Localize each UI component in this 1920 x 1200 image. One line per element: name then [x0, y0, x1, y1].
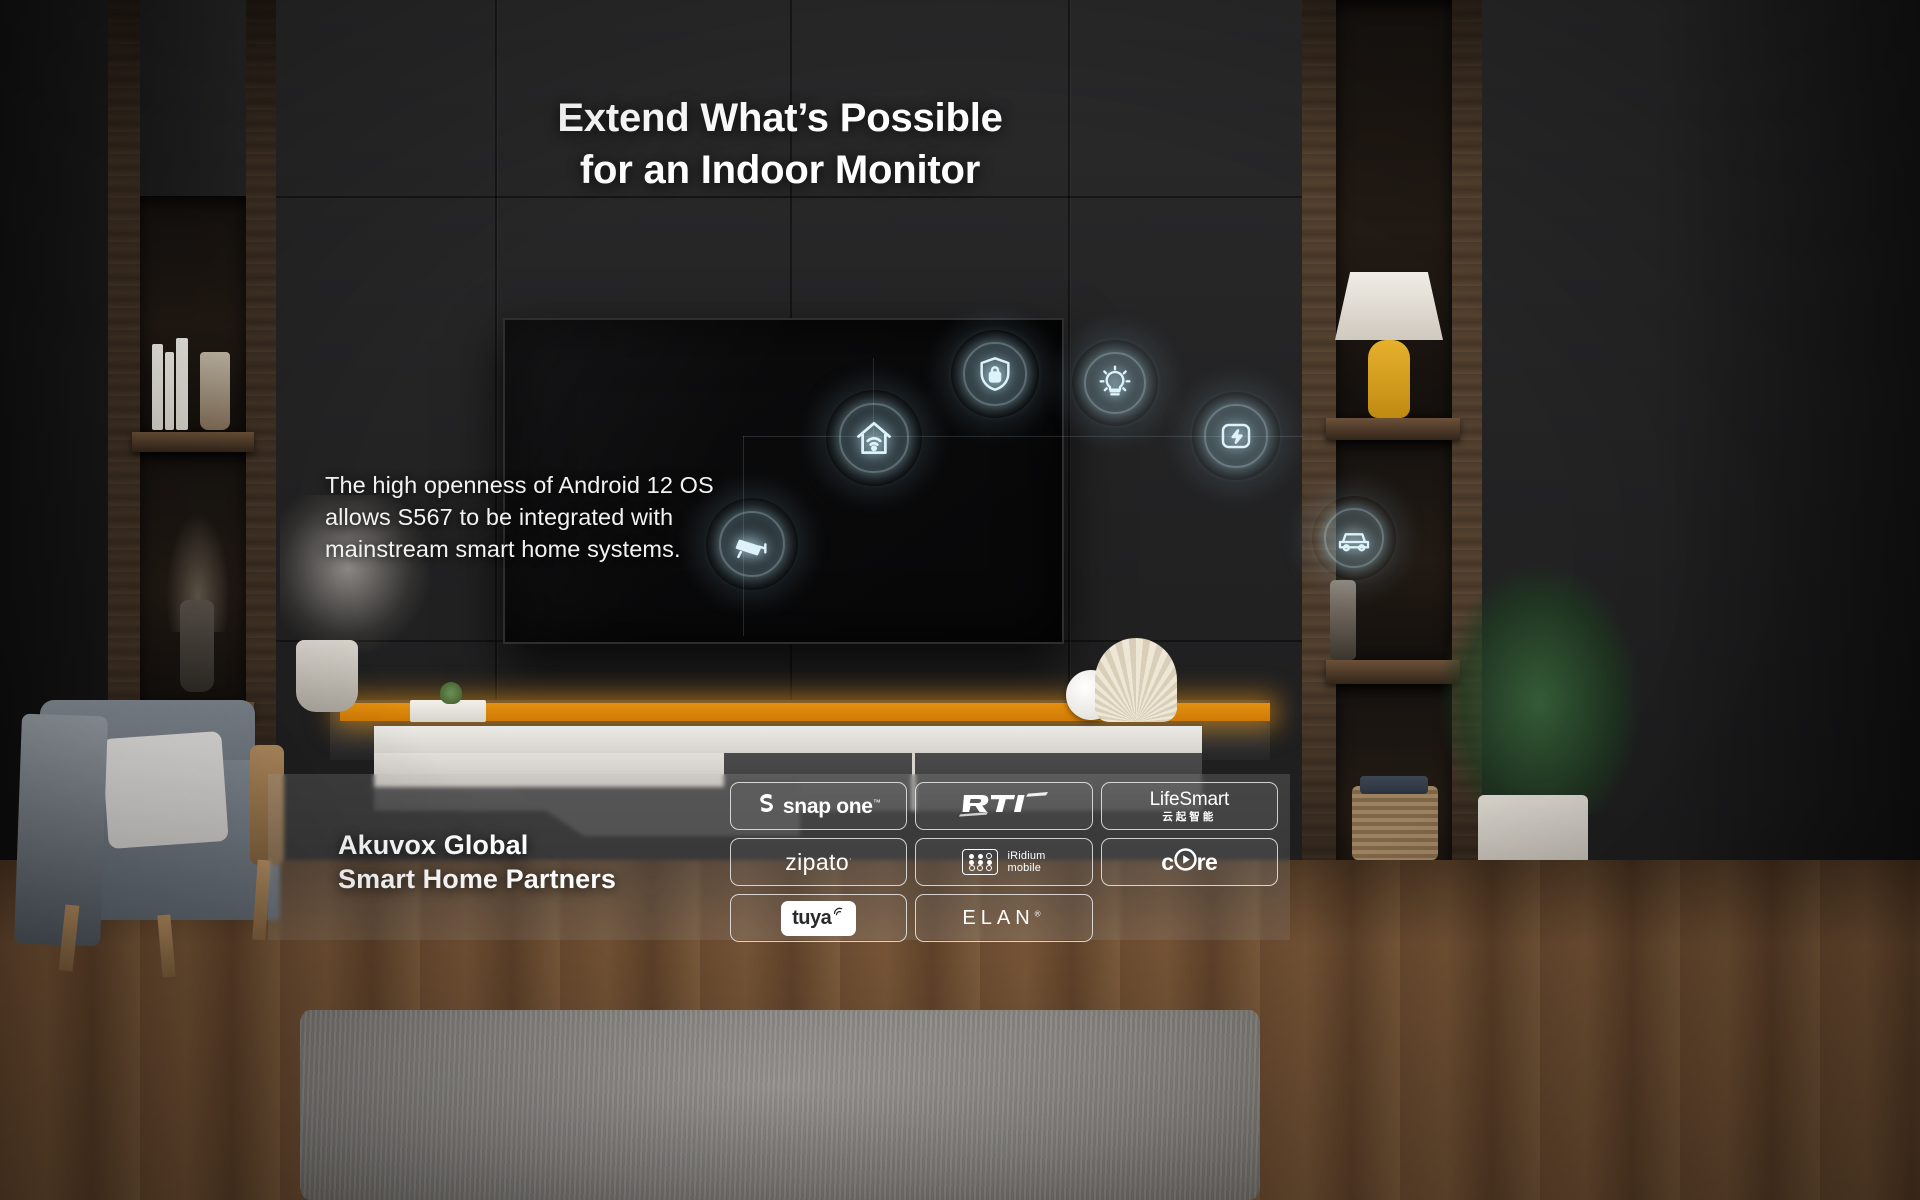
page-title: Extend What’s Possible for an Indoor Mon… — [0, 92, 1560, 196]
tuya-wordmark: tuya — [792, 908, 831, 928]
logo-grid-empty-cell — [1101, 894, 1278, 942]
zipato-wordmark: zipato· — [785, 851, 852, 874]
dot-matrix-icon — [962, 849, 998, 875]
lightbulb-icon — [1072, 340, 1158, 426]
reed-diffuser — [1330, 580, 1356, 660]
potted-plant-foliage — [1440, 565, 1640, 815]
left-shelf-slab — [132, 432, 254, 452]
area-rug — [300, 1010, 1260, 1200]
shelf-books — [152, 344, 163, 430]
core-play-mark-icon — [1174, 848, 1197, 876]
partners-title-line-1: Akuvox Global — [338, 828, 616, 862]
partner-logo-lifesmart[interactable]: LifeSmart 云起智能 — [1101, 782, 1278, 830]
core-wordmark-2: re — [1197, 851, 1218, 874]
core-wordmark: c — [1161, 851, 1173, 874]
armchair-cushion — [101, 731, 228, 849]
wall-seam — [275, 196, 1325, 198]
console-fan-vase — [1095, 638, 1177, 722]
partners-title-line-2: Smart Home Partners — [338, 862, 616, 896]
shelf-jar — [200, 352, 230, 430]
paragraph-line-1: The high openness of Android 12 OS — [325, 470, 765, 502]
table-lamp-shade — [1335, 272, 1443, 340]
partner-logo-tuya[interactable]: tuya — [730, 894, 907, 942]
partner-logo-zipato[interactable]: zipato· — [730, 838, 907, 886]
power-plug-icon — [1192, 392, 1280, 480]
partner-logo-rti[interactable] — [915, 782, 1092, 830]
lifesmart-wordmark: LifeSmart — [1150, 789, 1230, 810]
headline-line-1: Extend What’s Possible — [0, 92, 1560, 144]
paragraph-line-2: allows S567 to be integrated with — [325, 502, 765, 534]
folded-towel — [1360, 776, 1428, 794]
iridium-wordmark: iRidium mobile — [1007, 850, 1045, 875]
rti-wordmark-icon — [958, 789, 1050, 824]
partners-panel: Akuvox Global Smart Home Partners snap o… — [268, 774, 1290, 940]
elan-wordmark: ELAN® — [962, 908, 1045, 928]
table-lamp-base — [1368, 340, 1410, 418]
iridium-line-2: mobile — [1007, 862, 1041, 874]
console-plant — [440, 682, 462, 704]
marketing-hero-image: Extend What’s Possible for an Indoor Mon… — [0, 0, 1920, 1200]
wifi-home-icon — [826, 390, 922, 486]
partner-logo-snap-one[interactable]: snap one™ — [730, 782, 907, 830]
garage-car-icon — [1312, 496, 1396, 580]
paragraph-line-3: mainstream smart home systems. — [325, 534, 765, 566]
laundry-basket — [1352, 786, 1438, 860]
tuya-signal-icon — [833, 905, 845, 923]
shelf-vase — [180, 600, 214, 692]
snap-one-wordmark: snap one™ — [783, 796, 881, 817]
shelf-books — [165, 352, 174, 430]
partner-logo-elan[interactable]: ELAN® — [915, 894, 1092, 942]
shelf-books — [176, 338, 188, 430]
media-console-top — [374, 726, 1202, 753]
rug-texture — [300, 1010, 1260, 1200]
lifesmart-chinese-subtitle: 云起智能 — [1150, 812, 1230, 823]
partner-logo-iridium-mobile[interactable]: iRidium mobile — [915, 838, 1092, 886]
blossom-vase — [296, 640, 358, 712]
iridium-line-1: iRidium — [1007, 850, 1045, 862]
partner-logo-core[interactable]: c re — [1101, 838, 1278, 886]
partner-logo-grid: snap one™ — [730, 782, 1278, 942]
partners-title: Akuvox Global Smart Home Partners — [338, 828, 616, 896]
armchair-throw-blanket — [14, 714, 108, 947]
tuya-chip: tuya — [781, 901, 856, 936]
snap-one-s-mark-icon — [757, 793, 777, 820]
headline-line-2: for an Indoor Monitor — [0, 144, 1560, 196]
right-shelf-slab — [1326, 418, 1460, 440]
shield-lock-icon — [951, 330, 1039, 418]
description-paragraph: The high openness of Android 12 OS allow… — [325, 470, 765, 566]
